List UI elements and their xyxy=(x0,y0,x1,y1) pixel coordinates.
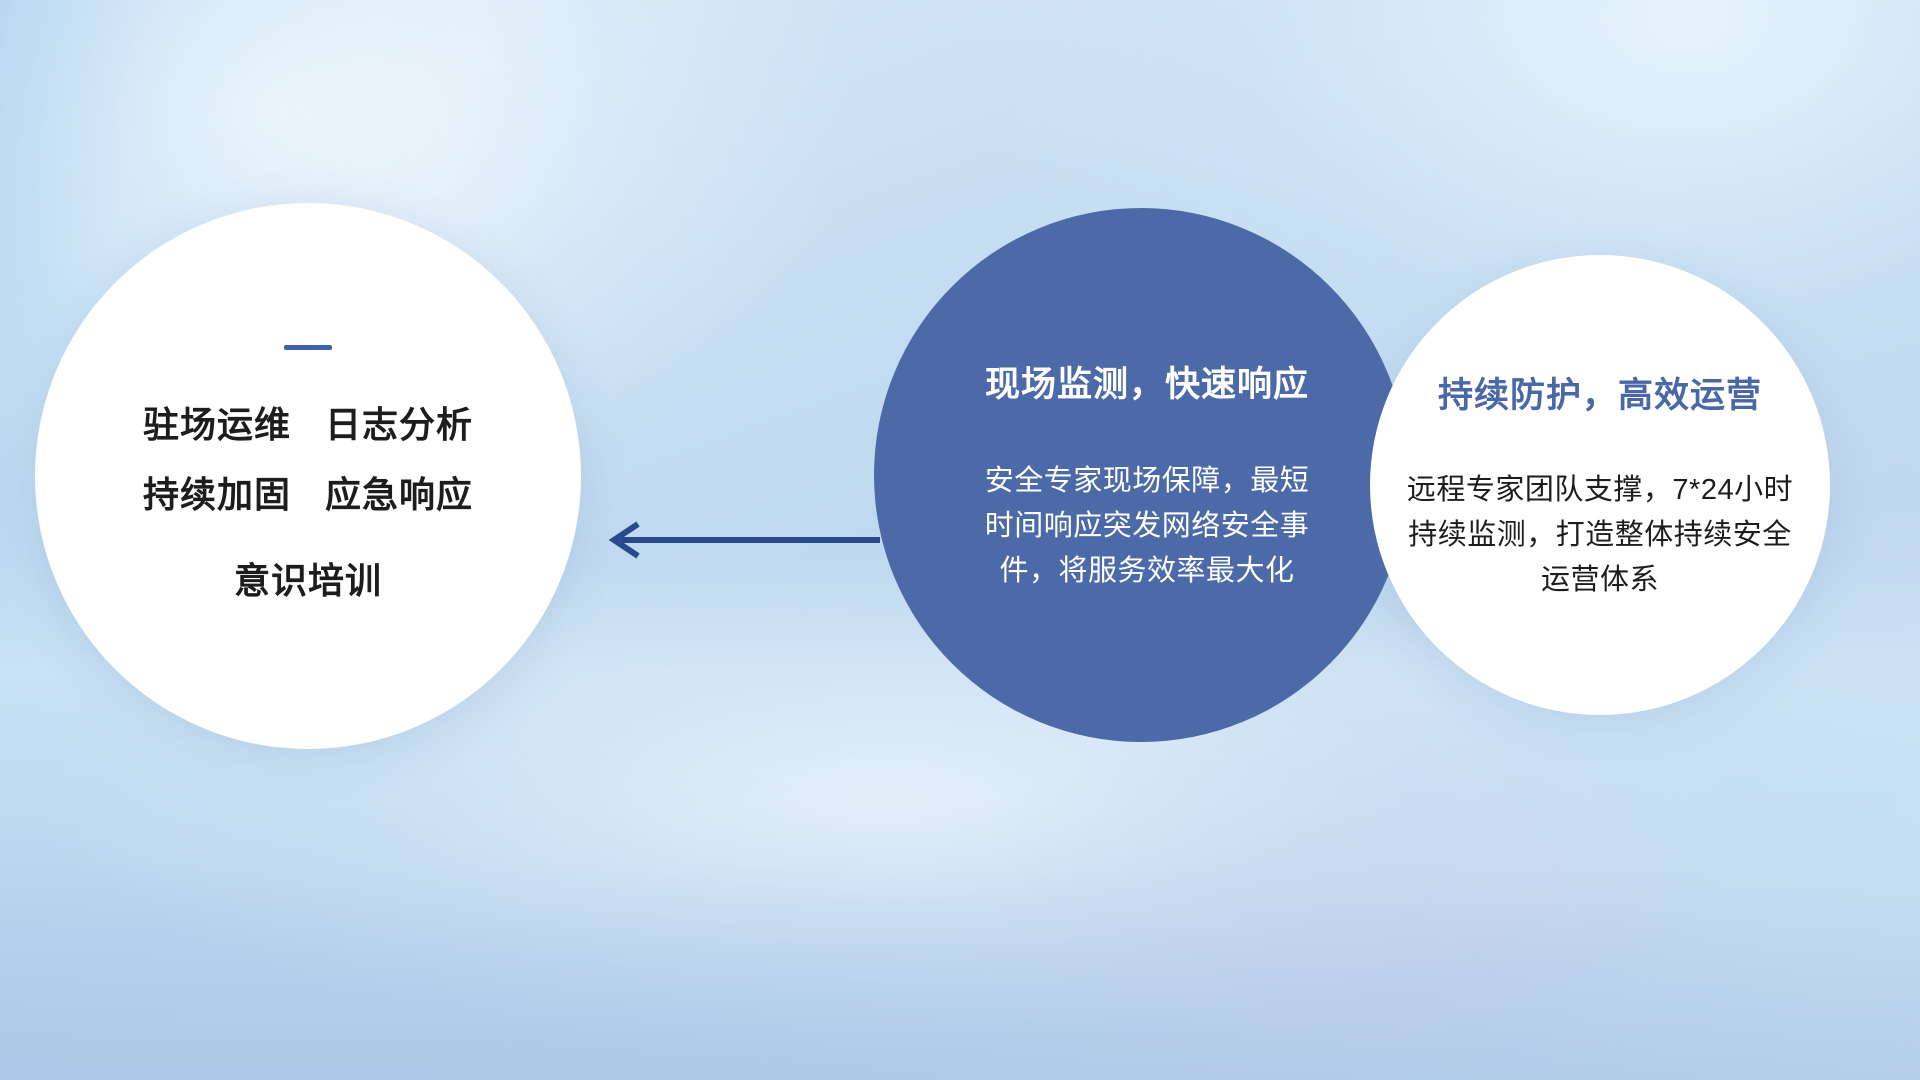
keyword-row: 持续加固 应急响应 xyxy=(143,466,473,518)
continuous-protection-body: 远程专家团队支撑，7*24小时持续监测，打造整体持续安全运营体系 xyxy=(1400,468,1800,603)
flow-arrow-left xyxy=(590,518,880,562)
capabilities-content: 驻场运维 日志分析 持续加固 应急响应 意识培训 xyxy=(35,345,581,608)
node-capabilities-circle[interactable]: 驻场运维 日志分析 持续加固 应急响应 意识培训 xyxy=(35,203,581,749)
keyword-log-analysis[interactable]: 日志分析 xyxy=(325,396,473,448)
keyword-continuous-hardening[interactable]: 持续加固 xyxy=(143,466,291,518)
continuous-protection-title: 持续防护，高效运营 xyxy=(1400,367,1800,418)
node-continuous-protection-circle[interactable]: 持续防护，高效运营 远程专家团队支撑，7*24小时持续监测，打造整体持续安全运营… xyxy=(1370,255,1830,715)
keyword-row: 意识培训 xyxy=(234,552,382,604)
keyword-onsite-ops[interactable]: 驻场运维 xyxy=(143,396,291,448)
keyword-emergency-response[interactable]: 应急响应 xyxy=(325,466,473,518)
onsite-monitoring-body: 安全专家现场保障，最短时间响应突发网络安全事件，将服务效率最大化 xyxy=(982,459,1312,594)
slide-canvas: 驻场运维 日志分析 持续加固 应急响应 意识培训 现场监测，快速响应 安全专家现… xyxy=(0,0,1920,1080)
node-onsite-monitoring-circle[interactable]: 现场监测，快速响应 安全专家现场保障，最短时间响应突发网络安全事件，将服务效率最… xyxy=(874,208,1408,742)
continuous-protection-content: 持续防护，高效运营 远程专家团队支撑，7*24小时持续监测，打造整体持续安全运营… xyxy=(1370,367,1830,603)
onsite-monitoring-content: 现场监测，快速响应 安全专家现场保障，最短时间响应突发网络安全事件，将服务效率最… xyxy=(874,356,1408,594)
keyword-row: 驻场运维 日志分析 xyxy=(143,396,473,448)
keyword-awareness-training[interactable]: 意识培训 xyxy=(234,552,382,604)
onsite-monitoring-title: 现场监测，快速响应 xyxy=(944,356,1350,407)
left-arrow-icon xyxy=(590,518,880,562)
title-divider-rule xyxy=(284,345,332,350)
